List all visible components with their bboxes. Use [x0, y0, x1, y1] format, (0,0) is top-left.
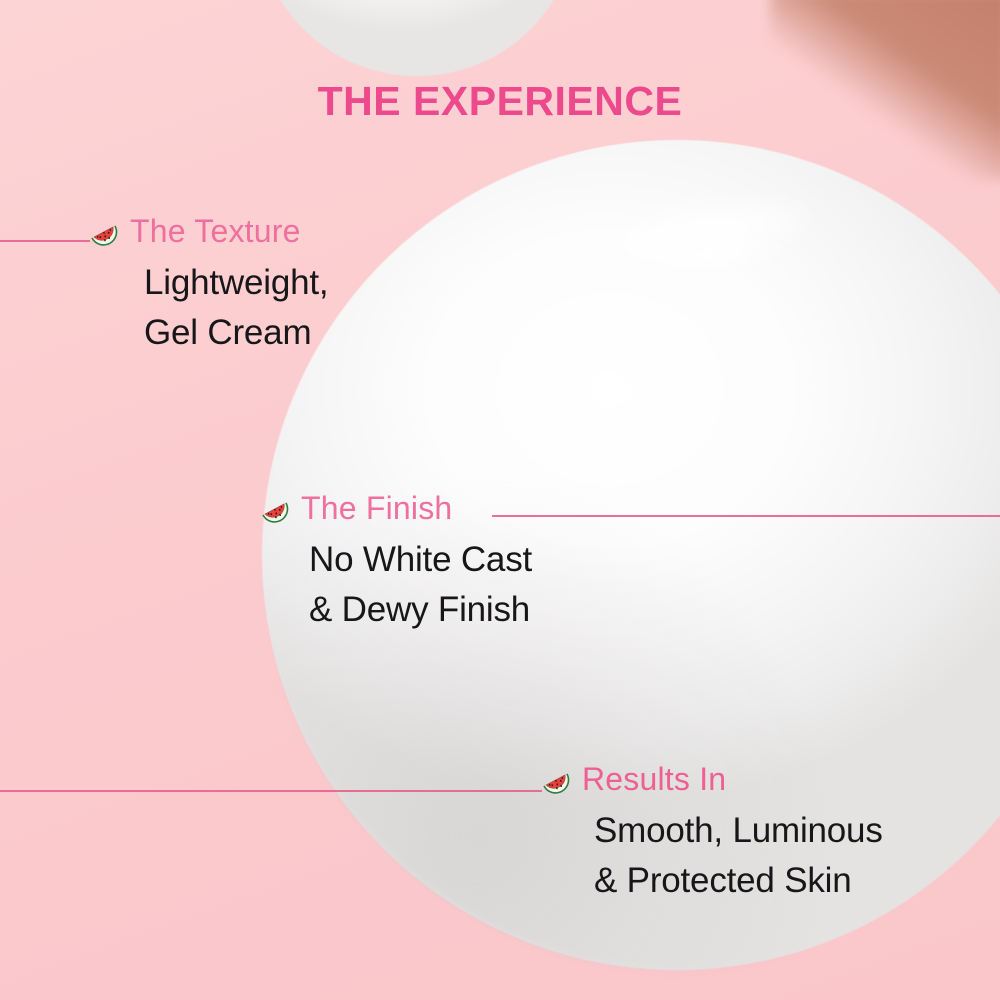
feature-heading-row: Results In: [538, 762, 883, 796]
feature-body-texture: Lightweight, Gel Cream: [144, 258, 328, 359]
feature-body-results: Smooth, Luminous & Protected Skin: [594, 806, 883, 907]
feature-title-texture: The Texture: [130, 215, 301, 247]
watermelon-slice-icon: [538, 762, 572, 796]
watermelon-slice-icon: [86, 214, 120, 248]
texture-connector-line: [0, 240, 90, 242]
watermelon-slice-icon: [257, 491, 291, 525]
feature-heading-row: The Finish: [257, 491, 532, 525]
results-connector-line: [0, 790, 542, 792]
feature-heading-row: The Texture: [86, 214, 328, 248]
finish-connector-line: [492, 515, 1000, 517]
feature-title-results: Results In: [582, 763, 726, 795]
feature-block-texture: The Texture Lightweight, Gel Cream: [86, 214, 328, 359]
page-title: THE EXPERIENCE: [0, 78, 1000, 125]
infographic-canvas: THE EXPERIENCE: [0, 0, 1000, 1000]
feature-body-finish: No White Cast & Dewy Finish: [309, 535, 532, 636]
feature-title-finish: The Finish: [301, 492, 452, 524]
feature-block-results: Results In Smooth, Luminous & Protected …: [538, 762, 883, 907]
feature-block-finish: The Finish No White Cast & Dewy Finish: [257, 491, 532, 636]
